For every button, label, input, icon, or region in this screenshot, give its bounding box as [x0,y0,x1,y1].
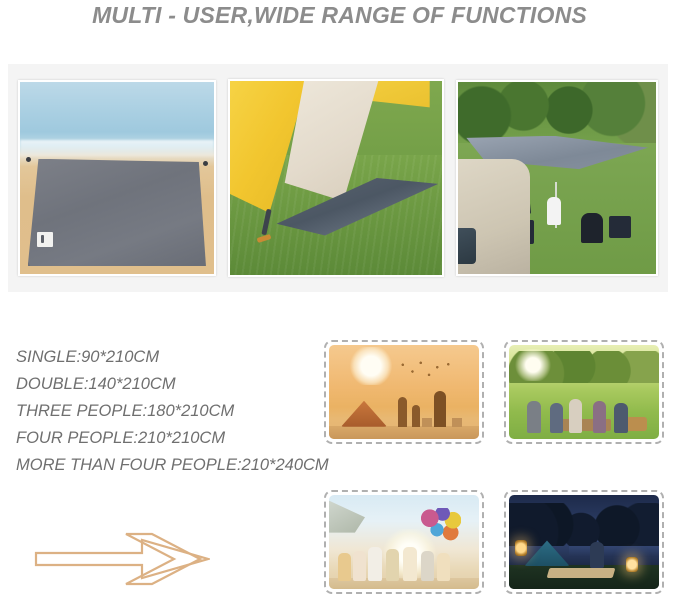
person-silhouette [398,397,407,427]
groundsheet-shape [28,159,206,267]
person-figure [437,553,450,581]
stake-left-icon [26,157,31,162]
ground-strip [329,426,479,439]
spec-line-more-than-four: MORE THAN FOUR PEOPLE:210*240CM [16,452,316,479]
person-figure [593,401,606,433]
gallery-thumb-sunset-camp[interactable] [324,340,484,444]
hero-photo-row [8,64,668,292]
person-figure [614,403,628,433]
right-arrow-graphic [34,528,210,590]
ocean-surf [20,140,214,157]
person-figure [338,553,351,581]
hero-photo-panel [8,64,668,292]
gallery-thumb-night-lake-camp[interactable] [504,490,664,594]
tent-footprint-image [230,81,443,275]
page-title: MULTI - USER,WIDE RANGE OF FUNCTIONS [0,0,679,36]
car-awning-image [458,82,656,274]
person-child [547,197,561,225]
size-spec-list: SINGLE:90*210CM DOUBLE:140*210CM THREE P… [16,344,316,479]
tree-silhouettes [509,503,659,546]
spec-line-three: THREE PEOPLE:180*210CM [16,398,316,425]
person-figure [550,403,563,433]
hero-photo-car-awning[interactable] [456,80,658,276]
person-figure [368,547,382,581]
birds-flock [389,360,458,384]
spec-line-double: DOUBLE:140*210CM [16,371,316,398]
sun-glow [515,349,551,381]
vehicle-body [458,159,529,274]
stool-silhouette [452,418,462,427]
gallery-thumb-beach-party[interactable] [324,490,484,594]
picnic-basket [625,417,647,431]
person-figure [527,401,541,433]
hero-photo-tent-footprint[interactable] [228,79,445,277]
right-arrow-icon [34,528,210,590]
lantern-icon [515,540,527,556]
sunset-camp-image [329,345,479,439]
night-lake-camp-image [509,495,659,589]
camping-chair [609,216,631,238]
ground-mat [547,568,616,578]
background-treeline [458,82,656,143]
gallery-thumb-field-picnic[interactable] [504,340,664,444]
balloon-bunch [421,508,461,542]
beach-party-image [329,495,479,589]
brand-logo-badge [37,232,53,247]
person-figure [403,547,417,581]
spec-line-four: FOUR PEOPLE:210*210CM [16,425,316,452]
lantern-icon [626,557,638,572]
person-figure [421,551,434,581]
person-figure [569,399,582,433]
person-adult [581,213,603,243]
person-figure [386,549,399,581]
stake-right-icon [203,161,208,166]
hero-photo-beach-groundsheet[interactable] [18,80,216,276]
person-silhouette [412,405,420,427]
person-figure [353,551,366,581]
person-figure [590,542,604,568]
person-silhouette [434,391,446,427]
cliff-rock [329,501,365,533]
spec-line-single: SINGLE:90*210CM [16,344,316,371]
sun-glow [350,347,392,385]
field-picnic-image [509,345,659,439]
tent-silhouette [341,401,387,427]
stool-silhouette [422,418,432,427]
beach-groundsheet-image [20,82,214,274]
vehicle-window [458,228,475,264]
